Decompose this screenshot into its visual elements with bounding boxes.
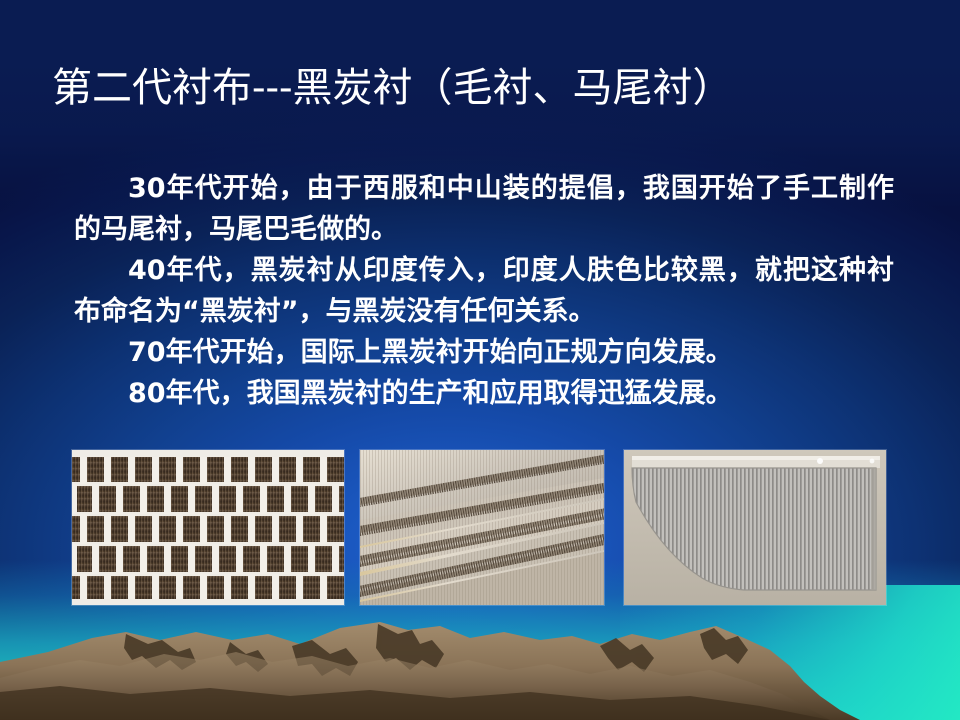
mountain-silhouette-graphic (0, 610, 960, 720)
body-paragraph-4: 80年代，我国黑炭衬的生产和应用取得迅猛发展。 (74, 373, 894, 414)
body-paragraph-3: 70年代开始，国际上黑炭衬开始向正规方向发展。 (74, 332, 894, 373)
photo-cut-interlining-panel (624, 450, 886, 605)
layered-interlining-graphic (360, 450, 604, 605)
cut-panel-graphic (624, 450, 886, 605)
body-paragraph-2: 40年代，黑炭衬从印度传入，印度人肤色比较黑，就把这种衬布命名为“黑炭衬”，与黑… (74, 250, 894, 332)
woven-horsehair-graphic (72, 450, 344, 605)
slide-canvas: 第二代衬布---黑炭衬（毛衬、马尾衬） 30年代开始，由于西服和中山装的提倡，我… (0, 0, 960, 720)
photo-layered-hair-interlining-fan (360, 450, 604, 605)
body-paragraph-1: 30年代开始，由于西服和中山装的提倡，我国开始了手工制作的马尾衬，马尾巴毛做的。 (74, 168, 894, 250)
mountain-decoration (0, 610, 960, 720)
slide-body: 30年代开始，由于西服和中山装的提倡，我国开始了手工制作的马尾衬，马尾巴毛做的。… (74, 168, 894, 414)
slide-title: 第二代衬布---黑炭衬（毛衬、马尾衬） (52, 62, 912, 114)
photo-woven-horsehair-interlining (72, 450, 344, 605)
